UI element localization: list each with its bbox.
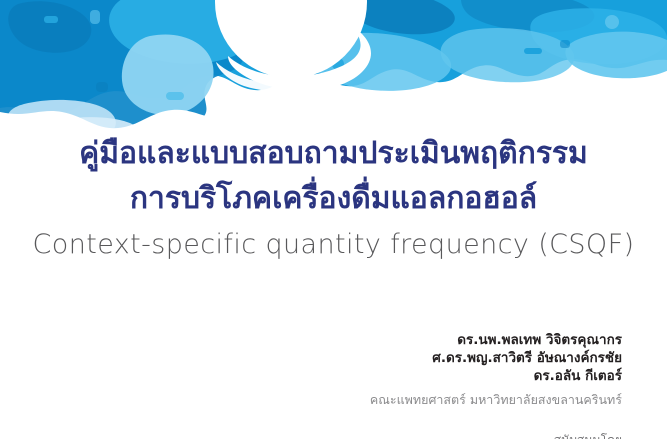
bottom-clipped-label: สนับสนุนโดย xyxy=(554,432,622,439)
splash-dark-accent-top xyxy=(348,0,455,34)
splash-sky-patch-c xyxy=(565,32,667,79)
cover-title: คู่มือและแบบสอบถามประเมินพฤติกรรม การบริ… xyxy=(0,131,667,221)
splash-speck-2 xyxy=(90,10,100,24)
cover-page: คู่มือและแบบสอบถามประเมินพฤติกรรม การบริ… xyxy=(0,0,667,439)
splash-speck-8 xyxy=(605,15,619,29)
title-line-2: การบริโภคเครื่องดื่มแอลกอฮอล์ xyxy=(0,176,667,221)
splash-bright-right xyxy=(530,8,667,64)
splash-speck-1 xyxy=(44,16,58,23)
circle-knockout xyxy=(215,0,367,78)
crescent-swoosh xyxy=(228,26,371,90)
splash-dark-accent-right xyxy=(461,0,594,32)
splash-dark-accent-left xyxy=(8,1,91,53)
splash-deep-left xyxy=(0,0,250,140)
splash-speck-4 xyxy=(166,92,184,100)
author-name-1: ดร.นพ.พลเทพ วิจิตรคุณากร xyxy=(370,331,622,349)
splash-speck-5 xyxy=(524,48,542,54)
splash-bright-mid xyxy=(109,0,257,64)
splash-sky-patch-a xyxy=(310,33,451,91)
author-affiliation: คณะแพทยศาสตร์ มหาวิทยาลัยสงขลานครินทร์ xyxy=(370,391,622,408)
author-name-2: ศ.ดร.พญ.สาวิตรี อัษณางค์กรชัย xyxy=(370,349,622,367)
splash-speck-9 xyxy=(332,58,344,70)
splash-base-layer xyxy=(0,0,667,114)
bottom-clipped-text: สนับสนุนโดย xyxy=(554,432,622,439)
cover-subtitle: Context-specific quantity frequency (CSQ… xyxy=(0,227,667,263)
author-name-3: ดร.อลัน กีเตอร์ xyxy=(370,367,622,385)
author-block: ดร.นพ.พลเทพ วิจิตรคุณากร ศ.ดร.พญ.สาวิตรี… xyxy=(370,331,622,408)
splash-light-blob-left xyxy=(122,34,214,115)
splash-sky-patch-b xyxy=(441,28,575,82)
watercolor-splash-banner xyxy=(0,0,667,140)
title-line-1: คู่มือและแบบสอบถามประเมินพฤติกรรม xyxy=(0,131,667,176)
splash-speck-3 xyxy=(96,82,108,92)
splash-speck-6 xyxy=(560,40,570,48)
crescent-swoosh-inner xyxy=(216,62,348,92)
splash-speck-7 xyxy=(300,10,312,19)
